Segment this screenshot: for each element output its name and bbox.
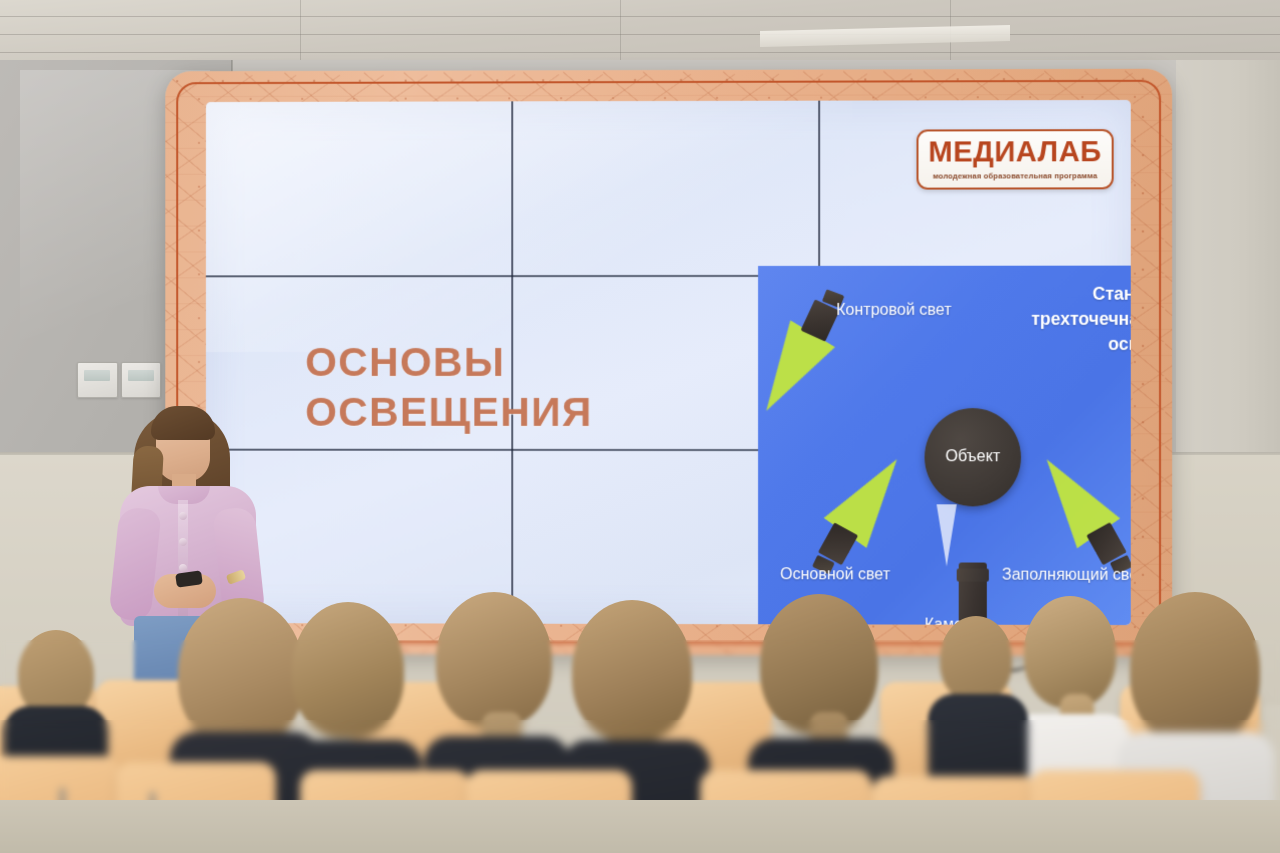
three-point-lighting-diagram: Стандартная трехточечная схема освещения… <box>758 266 1131 626</box>
floor <box>0 800 1280 853</box>
logo-wordmark: МЕДИАЛАБ <box>928 138 1101 167</box>
presenter-button-1 <box>179 512 187 520</box>
presentation-room-photo: ОСНОВЫ ОСВЕЩЕНИЯ Стандартная трехточечна… <box>0 0 1280 853</box>
audience-torso-8 <box>928 694 1028 784</box>
presenter-button-3 <box>179 564 187 572</box>
backlight-label: Контровой свет <box>836 302 951 320</box>
logo-subtitle: молодежная образовательная программа <box>933 171 1098 180</box>
fill-light-label: Заполняющий свет <box>1002 567 1131 585</box>
audience-hair-9 <box>18 630 94 718</box>
key-light-label: Основной свет <box>780 566 890 584</box>
slide-screen[interactable]: ОСНОВЫ ОСВЕЩЕНИЯ Стандартная трехточечна… <box>206 100 1131 625</box>
right-wall-pillar <box>1176 60 1280 460</box>
diagram-heading-line-3: освещения <box>903 332 1130 357</box>
slide-title-line-1: ОСНОВЫ <box>305 337 664 387</box>
audience-hair-3 <box>572 600 692 742</box>
audience-hair-1 <box>178 598 304 748</box>
audience-hair-7 <box>1130 592 1260 746</box>
subject-object-label: Объект <box>945 448 1000 466</box>
light-switch-right[interactable] <box>121 362 162 398</box>
light-switch-left[interactable] <box>77 362 118 398</box>
audience-hair-5 <box>292 602 404 738</box>
wall-switch-panel[interactable] <box>77 362 161 398</box>
screen-glare <box>206 101 852 352</box>
slide-title: ОСНОВЫ ОСВЕЩЕНИЯ <box>305 337 664 437</box>
presenter-button-2 <box>179 538 187 546</box>
ceiling-light-strip <box>760 25 1010 47</box>
presenter-hair-top <box>151 406 215 440</box>
slide-title-line-2: ОСВЕЩЕНИЯ <box>305 387 664 437</box>
audience-hair-8 <box>940 616 1012 702</box>
presentation-video-wall[interactable]: ОСНОВЫ ОСВЕЩЕНИЯ Стандартная трехточечна… <box>165 69 1172 657</box>
audience-hair-2 <box>436 592 552 728</box>
subject-object-circle: Объект <box>925 408 1021 506</box>
ceiling <box>0 0 1280 62</box>
medialab-logo-badge: МЕДИАЛАБ молодежная образовательная прог… <box>916 129 1113 190</box>
audience-hair-6 <box>1024 596 1116 708</box>
camera-field-of-view-cone <box>937 504 957 566</box>
